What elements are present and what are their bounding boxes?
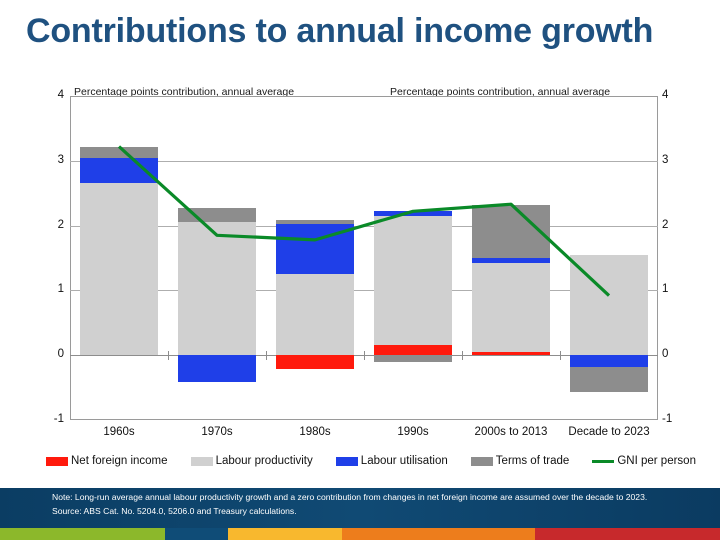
bar-segment (80, 147, 158, 158)
y-tick-label: 4 (662, 89, 696, 101)
legend-label: Terms of trade (496, 455, 570, 467)
bar-segment (472, 352, 550, 355)
y-tick-label: 1 (662, 283, 696, 295)
bar-segment (374, 345, 452, 355)
y-tick-label: 3 (662, 154, 696, 166)
legend-item[interactable]: GNI per person (592, 455, 696, 467)
bar-segment (276, 224, 354, 275)
colorbar-segment (0, 528, 165, 540)
bar-segment (472, 258, 550, 263)
bar-segment (276, 220, 354, 224)
x-tick-label: 1990s (397, 426, 428, 438)
x-tick-mark (266, 351, 267, 360)
y-tick-label: -1 (662, 413, 696, 425)
x-tick-mark (462, 351, 463, 360)
y-tick-label: -1 (30, 413, 64, 425)
x-tick-mark (168, 351, 169, 360)
x-tick-mark (560, 351, 561, 360)
y-tick-label: 0 (662, 348, 696, 360)
x-tick-label: 1970s (201, 426, 232, 438)
bar-segment (570, 255, 648, 355)
x-tick-label: 2000s to 2013 (475, 426, 548, 438)
legend-label: Net foreign income (71, 455, 168, 467)
bar-segment (80, 183, 158, 355)
y-tick-label: 1 (30, 283, 64, 295)
colorbar-segment (535, 528, 720, 540)
y-tick-label: 2 (30, 219, 64, 231)
bar-segment (570, 367, 648, 392)
legend-swatch-icon (336, 457, 358, 466)
slide: Contributions to annual income growth Pe… (0, 0, 720, 540)
bar-segment (276, 355, 354, 369)
legend-swatch-icon (471, 457, 493, 466)
bar-segment (276, 274, 354, 355)
footer-text: Note: Long-run average annual labour pro… (52, 492, 692, 517)
y-tick-label: 0 (30, 348, 64, 360)
legend-item[interactable]: Net foreign income (46, 455, 168, 467)
footer-source: Source: ABS Cat. No. 5204.0, 5206.0 and … (52, 506, 692, 518)
colorbar-segment (165, 528, 228, 540)
bar-segment (178, 222, 256, 355)
gridline (70, 226, 658, 227)
bar-segment (472, 205, 550, 258)
bar-segment (178, 208, 256, 222)
y-tick-label: 3 (30, 154, 64, 166)
legend-label: Labour utilisation (361, 455, 448, 467)
legend-line-icon (592, 460, 614, 463)
legend-swatch-icon (46, 457, 68, 466)
legend-item[interactable]: Terms of trade (471, 455, 570, 467)
decorative-colorbar (0, 528, 720, 540)
bar-segment (80, 158, 158, 184)
bar-segment (374, 355, 452, 361)
y-tick-label: 4 (30, 89, 64, 101)
bar-segment (178, 355, 256, 382)
footer-note: Note: Long-run average annual labour pro… (52, 492, 692, 504)
colorbar-segment (228, 528, 342, 540)
x-tick-mark (364, 351, 365, 360)
x-tick-label: Decade to 2023 (568, 426, 649, 438)
legend-item[interactable]: Labour utilisation (336, 455, 448, 467)
legend-swatch-icon (191, 457, 213, 466)
y-tick-label: 2 (662, 219, 696, 231)
bar-segment (570, 355, 648, 367)
bar-segment (472, 263, 550, 352)
legend-item[interactable]: Labour productivity (191, 455, 313, 467)
legend-label: Labour productivity (216, 455, 313, 467)
legend-label: GNI per person (617, 455, 696, 467)
page-title: Contributions to annual income growth (26, 12, 696, 51)
colorbar-segment (342, 528, 535, 540)
x-tick-label: 1960s (103, 426, 134, 438)
chart-legend: Net foreign incomeLabour productivityLab… (46, 452, 696, 470)
gridline (70, 161, 658, 162)
x-tick-label: 1980s (299, 426, 330, 438)
bar-segment (374, 211, 452, 216)
bar-segment (374, 216, 452, 346)
